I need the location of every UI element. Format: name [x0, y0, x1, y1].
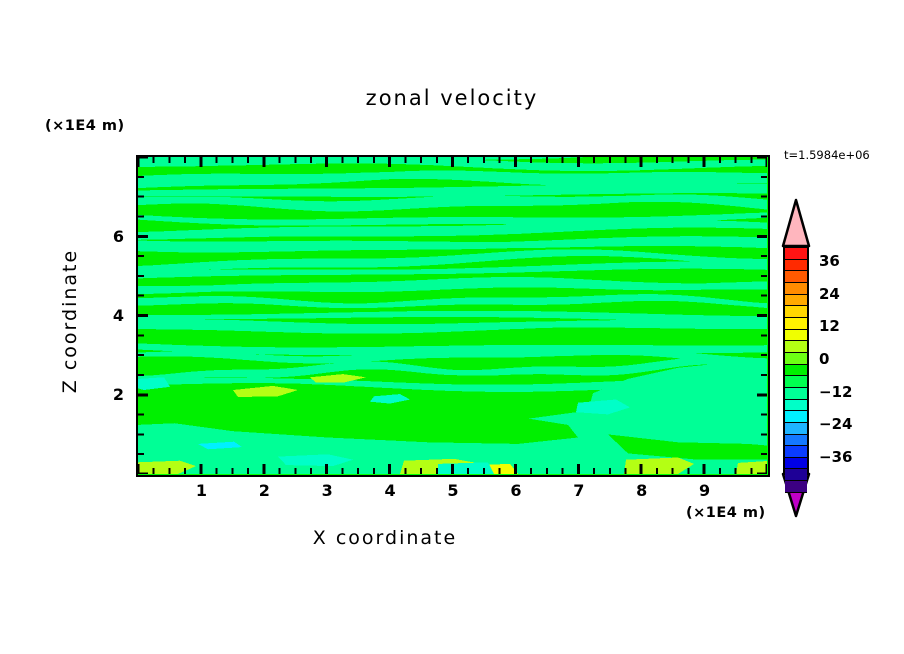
x-tick-label: 4: [375, 481, 405, 500]
colorbar-band: [785, 365, 807, 377]
colorbar-tick-label: −12: [819, 383, 852, 401]
colorbar-tick-label: 0: [819, 350, 829, 368]
y-tick-label: 2: [102, 385, 124, 404]
colorbar-tick-label: 12: [819, 317, 840, 335]
timestamp-annotation: t=1.5984e+06: [784, 148, 870, 162]
y-axis-title: Z coordinate: [59, 211, 81, 431]
axis-ticks: [138, 157, 767, 474]
x-tick-label: 2: [249, 481, 279, 500]
colorbar-band: [785, 388, 807, 400]
colorbar-band: [785, 306, 807, 318]
x-tick-label: 6: [501, 481, 531, 500]
contour-plot-area: [136, 155, 770, 477]
x-tick-label: 3: [312, 481, 342, 500]
x-axis-title: X coordinate: [0, 527, 770, 549]
page-title: zonal velocity: [0, 86, 904, 110]
x-tick-label: 9: [690, 481, 720, 500]
colorbar-band: [785, 481, 807, 493]
horizontal-axis-unit-label: (×1E4 m): [686, 505, 766, 521]
colorbar-band: [785, 283, 807, 295]
colorbar-band: [785, 271, 807, 283]
colorbar-band: [785, 423, 807, 435]
colorbar-tick-label: 36: [819, 252, 840, 270]
vertical-axis-unit-label: (×1E4 m): [45, 118, 125, 134]
colorbar-band: [785, 295, 807, 307]
colorbar-band: [785, 318, 807, 330]
colorbar-band: [785, 400, 807, 412]
colorbar-band: [785, 260, 807, 272]
colorbar-band: [785, 411, 807, 423]
colorbar-band: [785, 341, 807, 353]
colorbar-band: [785, 248, 807, 260]
colorbar-band: [785, 376, 807, 388]
colorbar: 3624120−12−24−36: [779, 198, 813, 518]
x-tick-label: 8: [627, 481, 657, 500]
colorbar-band: [785, 458, 807, 470]
colorbar-band: [785, 353, 807, 365]
y-tick-label: 4: [102, 306, 124, 325]
colorbar-tick-label: −24: [819, 415, 852, 433]
colorbar-tick-label: 24: [819, 285, 840, 303]
colorbar-tick-label: −36: [819, 448, 852, 466]
colorbar-band: [785, 330, 807, 342]
colorbar-band: [785, 435, 807, 447]
x-tick-label: 7: [564, 481, 594, 500]
x-tick-label: 5: [438, 481, 468, 500]
x-tick-label: 1: [186, 481, 216, 500]
colorbar-gradient: [783, 246, 809, 474]
colorbar-band: [785, 469, 807, 481]
colorbar-band: [785, 446, 807, 458]
y-tick-label: 6: [102, 227, 124, 246]
